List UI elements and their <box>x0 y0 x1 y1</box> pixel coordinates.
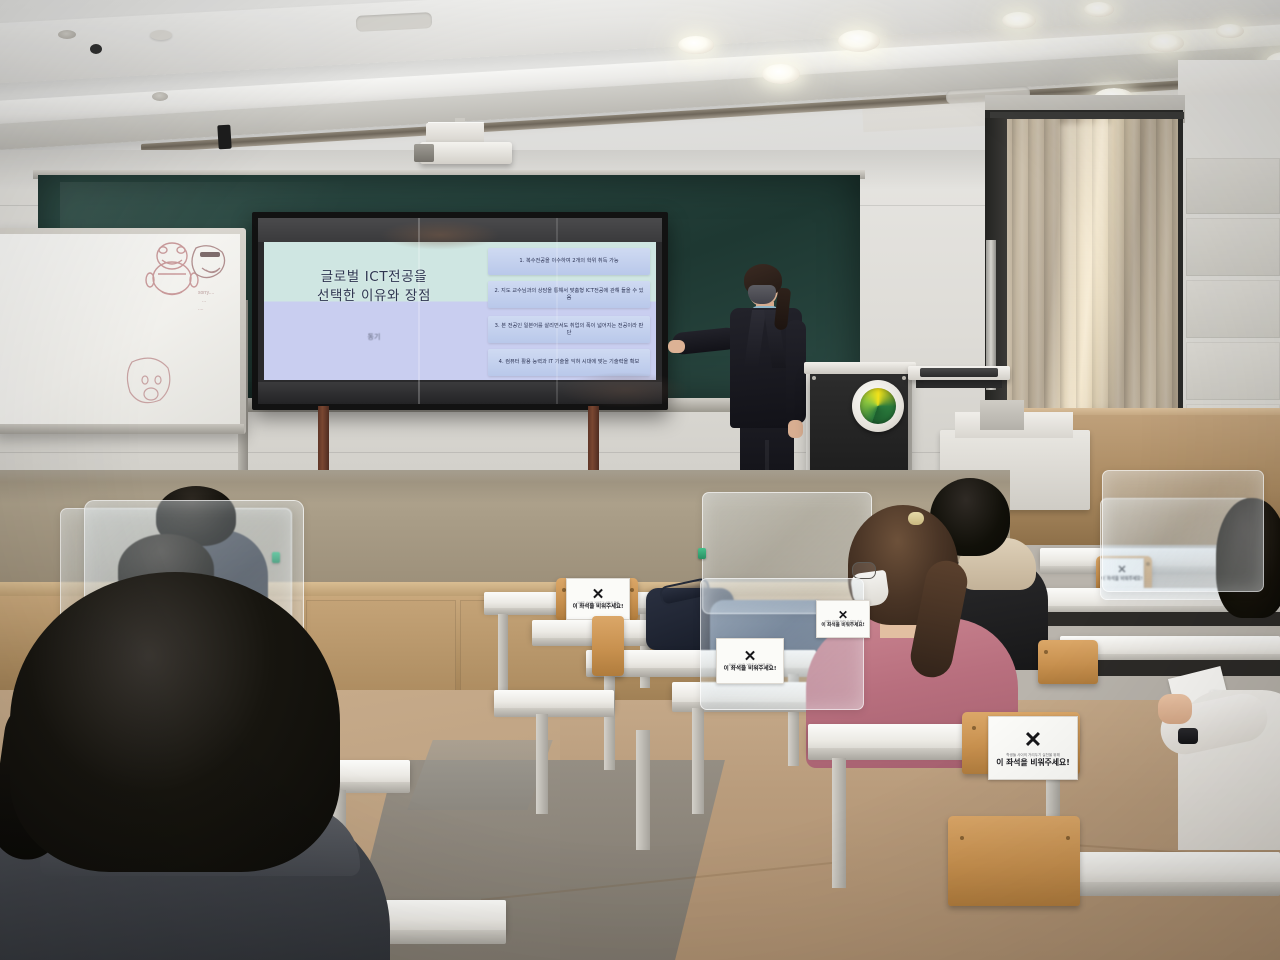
rail-end-cap <box>217 125 231 150</box>
curtain-daylight-glow <box>1060 124 1112 406</box>
slide-bullet-text: 1. 복수전공을 이수하여 2개의 학위 취득 가능 <box>513 258 624 265</box>
university-emblem-inner <box>860 388 896 424</box>
presenter-right-hand <box>788 420 803 438</box>
sign-main-text: 이 좌석을 비워주세요! <box>573 605 624 611</box>
equipment-box <box>980 400 1024 430</box>
right-wall-top <box>1178 60 1280 100</box>
smoke-detector-icon <box>150 30 172 40</box>
slide-title: 글로벌 ICT전공을 선택한 이유와 장점 <box>276 268 472 306</box>
chair-screw <box>960 836 964 840</box>
x-mark-icon: ✕ <box>592 587 605 602</box>
screen-glare-line <box>556 218 558 404</box>
student-hand <box>1158 694 1192 724</box>
slide-bullet: 2. 지도 교수님과의 상담을 통해서 맞춤형 ICT전공에 관해 들을 수 있… <box>488 281 650 308</box>
ceiling-downlight <box>1084 2 1114 17</box>
wall-panel <box>1186 158 1280 214</box>
chair-screw <box>630 588 634 592</box>
podium-top-surface <box>804 362 916 374</box>
chair-screw <box>972 726 976 730</box>
desk <box>494 690 614 710</box>
chair-back[interactable] <box>1038 640 1098 684</box>
desk-edge <box>494 708 614 717</box>
ceiling-downlight <box>1148 34 1184 52</box>
divider-clip <box>698 548 706 559</box>
slide-title-panel: 글로벌 ICT전공을 선택한 이유와 장점 동기 <box>264 240 482 380</box>
slide-title-line1: 글로벌 ICT전공을 <box>276 268 472 287</box>
desk <box>1072 852 1280 886</box>
ceiling-downlight <box>762 64 800 84</box>
podium-screw <box>902 376 906 380</box>
hair-tie <box>908 512 924 525</box>
screen-glare <box>560 372 690 408</box>
whiteboard-doodles: sorry.... ... .... <box>0 234 240 424</box>
curtain-rod <box>990 112 1184 119</box>
ceiling-sensor-icon <box>90 44 102 54</box>
slide-bullet-text: 2. 지도 교수님과의 상담을 통해서 맞춤형 ICT전공에 관해 들을 수 있… <box>488 288 650 302</box>
slide: 글로벌 ICT전공을 선택한 이유와 장점 동기 1. 복수전공을 이수하여 2… <box>264 240 656 380</box>
whiteboard-marker-tray <box>0 424 244 434</box>
x-mark-icon: ✕ <box>744 649 757 664</box>
presenter-left-hand <box>668 340 685 353</box>
ceiling-downlight <box>1216 24 1244 38</box>
podium-keyboard[interactable] <box>920 368 998 377</box>
svg-text:sorry....: sorry.... <box>198 290 214 296</box>
screen-glare <box>380 220 500 250</box>
slide-subtitle: 동기 <box>276 332 472 342</box>
ceiling-downlight-off <box>58 30 76 39</box>
chair-screw <box>1044 650 1048 654</box>
desk-edge <box>1072 882 1280 896</box>
chair-back[interactable] <box>592 616 624 676</box>
seat-closed-sign: ✕ 학생들 사이의 거리두기 실천을 위해 이 좌석을 비워주세요! <box>988 716 1078 780</box>
seat-closed-sign: ✕ 학생들 사이의 거리두기 실천을 위해 이 좌석을 비워주세요! <box>816 600 870 638</box>
wall-panel <box>1186 218 1280 276</box>
student-head-foreground <box>10 572 340 872</box>
presenter-right-arm <box>786 320 806 424</box>
aisle-carpet-upper <box>407 740 552 810</box>
wall-panel <box>1186 280 1280 338</box>
ceiling-downlight <box>838 30 880 52</box>
desk-leg <box>536 714 548 814</box>
lecture-hall-photo: 글로벌 ICT전공을 선택한 이유와 장점 동기 1. 복수전공을 이수하여 2… <box>0 0 1280 960</box>
sign-main-text: 이 좌석을 비워주세요! <box>724 667 777 673</box>
student-glasses-icon <box>852 562 876 579</box>
desk-leg <box>604 674 615 770</box>
x-mark-icon: ✕ <box>1024 729 1042 751</box>
desk-leg <box>498 614 508 692</box>
slide-bullet: 1. 복수전공을 이수하여 2개의 학위 취득 가능 <box>488 248 650 275</box>
slide-bullet-text: 4. 컴퓨터 활용 능력과 IT 기술을 익혀 시대에 맞는 기술력을 확보 <box>493 359 646 366</box>
projector-lens-icon <box>414 144 434 162</box>
chair-back[interactable] <box>948 816 1080 906</box>
ceiling-downlight <box>1002 12 1036 29</box>
seat-closed-sign: ✕ 학생들 사이의 거리두기 실천을 위해 이 좌석을 비워주세요! <box>716 638 784 684</box>
slide-title-line2: 선택한 이유와 장점 <box>276 287 472 306</box>
whiteboard[interactable]: sorry.... ... .... <box>0 234 240 424</box>
svg-text:....: .... <box>198 306 204 312</box>
podium-screw <box>812 376 816 380</box>
seat-closed-sign: ✕ 학생들 사이의 거리두기 실천을 위해 이 좌석을 비워주세요! <box>566 578 630 620</box>
desk-leg <box>636 730 650 850</box>
slide-bullet: 3. 본 전공인 일본어를 살리면서도 취업의 폭이 넓어지는 전공이라 판단 <box>488 316 650 343</box>
slide-bullet-text: 3. 본 전공인 일본어를 살리면서도 취업의 폭이 넓어지는 전공이라 판단 <box>488 323 650 337</box>
wall-panel <box>1186 342 1280 400</box>
svg-text:...: ... <box>202 298 206 304</box>
sign-main-text: 이 좌석을 비워주세요! <box>821 624 864 629</box>
acrylic-divider <box>1102 470 1264 592</box>
sign-main-text: 이 좌석을 비워주세요! <box>996 759 1070 767</box>
chair-screw <box>1066 836 1070 840</box>
ceiling-downlight <box>678 36 714 54</box>
screen-glare-line <box>418 218 420 404</box>
desk-leg <box>692 708 704 814</box>
ceiling-downlight-off <box>152 92 168 101</box>
desk-leg <box>832 758 846 888</box>
smartwatch <box>1178 728 1198 744</box>
